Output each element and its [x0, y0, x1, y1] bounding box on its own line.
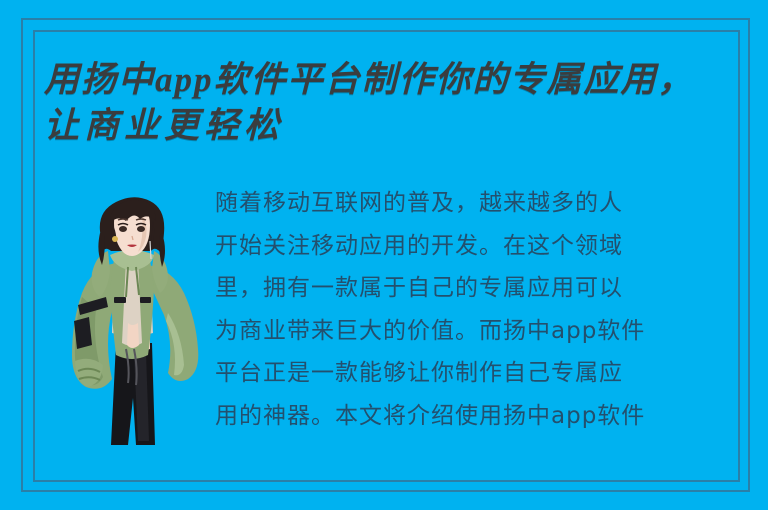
illustration-svg	[56, 193, 208, 449]
body-line: 随着移动互联网的普及，越来越多的人	[215, 182, 740, 225]
page-title-line-2: 让商业更轻松	[44, 103, 734, 149]
poster-canvas: 用扬中app软件平台制作你的专属应用， 让商业更轻松	[0, 0, 768, 510]
body-line: 平台正是一款能够让你制作自己专属应	[215, 352, 740, 395]
body-line: 为商业带来巨大的价值。而扬中app软件	[215, 310, 740, 353]
body-line: 用的神器。本文将介绍使用扬中app软件	[215, 395, 740, 438]
body-line: 里，拥有一款属于自己的专属应用可以	[215, 267, 740, 310]
page-title-line-1: 用扬中app软件平台制作你的专属应用，	[44, 57, 734, 103]
article-body: 随着移动互联网的普及，越来越多的人 开始关注移动应用的开发。在这个领域 里，拥有…	[215, 182, 740, 437]
page-title: 用扬中app软件平台制作你的专属应用， 让商业更轻松	[44, 57, 734, 149]
body-line: 开始关注移动应用的开发。在这个领域	[215, 225, 740, 268]
illustration-woman-green-jacket	[56, 193, 208, 449]
